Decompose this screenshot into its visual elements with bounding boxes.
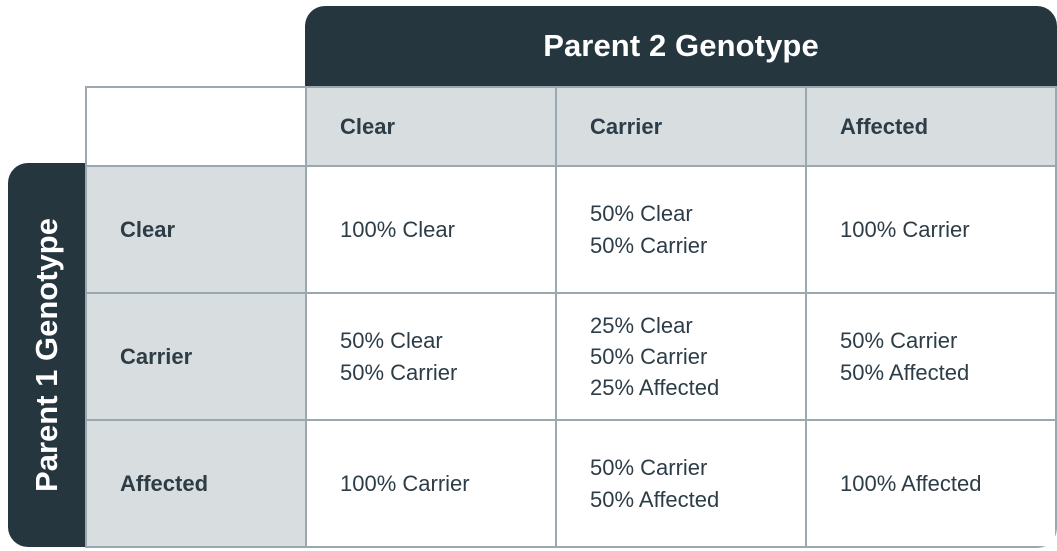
outcome-line: 50% Clear bbox=[340, 325, 555, 356]
outcome-line: 25% Affected bbox=[590, 372, 805, 403]
parent2-axis-banner: Parent 2 Genotype bbox=[305, 6, 1057, 86]
punnett-square-figure: Parent 2 Genotype Parent 1 Genotype Clea… bbox=[0, 0, 1057, 551]
genotype-matrix: Clear Carrier Affected Clear 100% Clear … bbox=[85, 86, 1057, 548]
row-header-clear: Clear bbox=[86, 166, 306, 293]
outcome-line: 100% Carrier bbox=[840, 214, 1055, 245]
column-header-carrier: Carrier bbox=[556, 87, 806, 166]
cell-carrier-carrier: 25% Clear 50% Carrier 25% Affected bbox=[556, 293, 806, 420]
outcome-line: 50% Affected bbox=[590, 484, 805, 515]
cell-clear-affected: 100% Carrier bbox=[806, 166, 1056, 293]
cell-clear-carrier: 50% Clear 50% Carrier bbox=[556, 166, 806, 293]
outcome-line: 100% Clear bbox=[340, 214, 555, 245]
column-header-clear: Clear bbox=[306, 87, 556, 166]
row-header-affected: Affected bbox=[86, 420, 306, 547]
cell-affected-carrier: 50% Carrier 50% Affected bbox=[556, 420, 806, 547]
outcome-line: 50% Carrier bbox=[590, 230, 805, 261]
parent1-axis-banner: Parent 1 Genotype bbox=[8, 163, 85, 547]
parent1-axis-label: Parent 1 Genotype bbox=[29, 218, 65, 492]
outcome-line: 50% Carrier bbox=[590, 341, 805, 372]
outcome-line: 50% Carrier bbox=[340, 357, 555, 388]
column-header-affected: Affected bbox=[806, 87, 1056, 166]
table-row: Carrier 50% Clear 50% Carrier 25% Clear … bbox=[86, 293, 1056, 420]
table-row: Clear 100% Clear 50% Clear 50% Carrier 1… bbox=[86, 166, 1056, 293]
table-row: Affected 100% Carrier 50% Carrier 50% Af… bbox=[86, 420, 1056, 547]
outcome-line: 50% Affected bbox=[840, 357, 1055, 388]
outcome-line: 100% Affected bbox=[840, 468, 1055, 499]
outcome-line: 50% Clear bbox=[590, 198, 805, 229]
column-header-row: Clear Carrier Affected bbox=[86, 87, 1056, 166]
cell-clear-clear: 100% Clear bbox=[306, 166, 556, 293]
row-header-carrier: Carrier bbox=[86, 293, 306, 420]
cell-affected-affected: 100% Affected bbox=[806, 420, 1056, 547]
outcome-line: 100% Carrier bbox=[340, 468, 555, 499]
cell-carrier-affected: 50% Carrier 50% Affected bbox=[806, 293, 1056, 420]
parent2-axis-label: Parent 2 Genotype bbox=[543, 28, 819, 64]
outcome-line: 50% Carrier bbox=[840, 325, 1055, 356]
cell-carrier-clear: 50% Clear 50% Carrier bbox=[306, 293, 556, 420]
cell-affected-clear: 100% Carrier bbox=[306, 420, 556, 547]
corner-blank-cell bbox=[86, 87, 306, 166]
outcome-line: 50% Carrier bbox=[590, 452, 805, 483]
outcome-line: 25% Clear bbox=[590, 310, 805, 341]
